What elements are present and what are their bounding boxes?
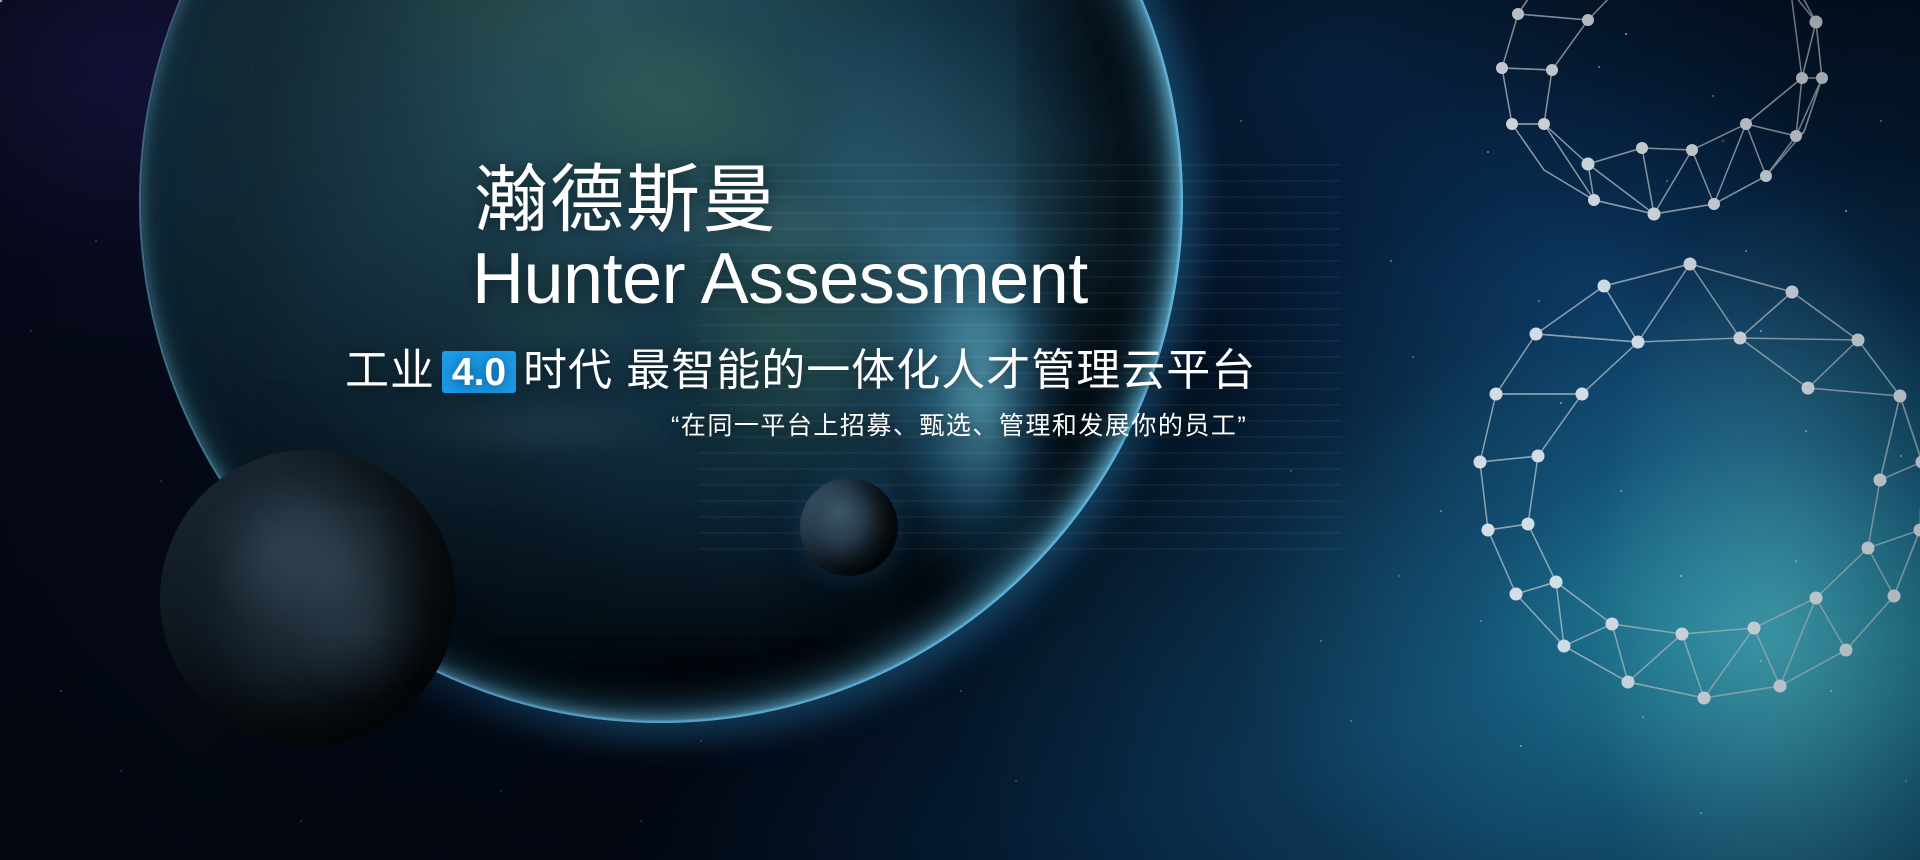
tagline: 工业 4.0 时代 最智能的一体化人才管理云平台: [345, 349, 1256, 393]
industry-version-badge: 4.0: [442, 351, 516, 393]
hero-subtitle-quote: “在同一平台上招募、甄选、管理和发展你的员工”: [671, 414, 1247, 439]
brand-title-cn: 瀚德斯曼: [474, 163, 778, 237]
tagline-suffix: 时代 最智能的一体化人才管理云平台: [523, 349, 1256, 393]
tagline-prefix: 工业: [345, 349, 435, 393]
hero-banner: 瀚德斯曼 Hunter Assessment 工业 4.0 时代 最智能的一体化…: [0, 0, 1920, 860]
hero-copy: 瀚德斯曼 Hunter Assessment 工业 4.0 时代 最智能的一体化…: [0, 0, 1920, 860]
brand-title-en: Hunter Assessment: [472, 243, 1088, 315]
